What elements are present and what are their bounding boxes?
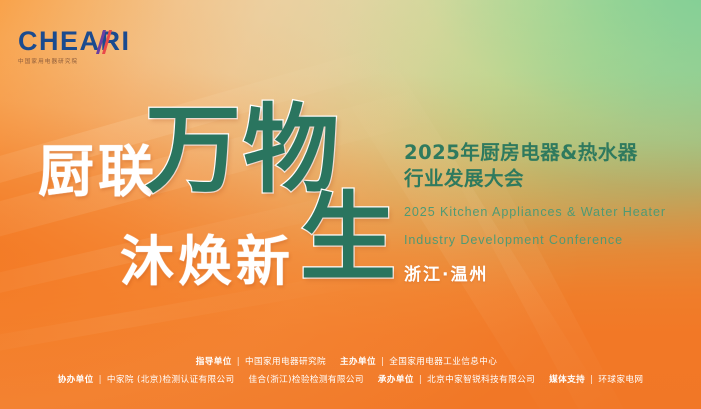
credit-label: 承办单位	[378, 371, 414, 389]
credit-value: 中国家用电器研究院	[245, 353, 326, 371]
cheari-logo: CHEARI 中国家用电器研究院	[18, 26, 148, 66]
credit-separator: |	[99, 371, 102, 389]
credit-value: 环球家电网	[598, 371, 643, 389]
credit-value: 中家院 (北京)检测认证有限公司	[107, 371, 235, 389]
event-en-title-line1: 2025 Kitchen Appliances & Water Heater	[404, 204, 694, 220]
event-en-title-line2: Industry Development Conference	[404, 232, 694, 248]
credits-row-2: 协办单位 | 中家院 (北京)检测认证有限公司 佳合(浙江)检验检测有限公司 承…	[0, 371, 701, 389]
event-cn-title-line1: 2025年厨房电器&热水器	[404, 140, 694, 166]
headline-chulian: 厨联	[38, 144, 158, 200]
credit-separator: |	[590, 371, 593, 389]
a-slash-mark-icon	[86, 30, 112, 54]
credit-item: 承办单位 | 北京中家智锐科技有限公司	[378, 371, 535, 389]
credit-separator: |	[381, 353, 384, 371]
credit-item: 媒体支持 | 环球家电网	[549, 371, 643, 389]
credit-value: 北京中家智锐科技有限公司	[427, 371, 535, 389]
event-cn-title-line2: 行业发展大会	[404, 166, 694, 192]
credit-label: 主办单位	[340, 353, 376, 371]
conference-poster: CHEARI 中国家用电器研究院 厨联 万物 沐焕新 生 2025年厨房电器&热…	[0, 0, 701, 409]
headline-sheng: 生	[300, 190, 396, 286]
logo-subtitle: 中国家用电器研究院	[18, 57, 148, 65]
credit-separator: |	[237, 353, 240, 371]
credit-item: 协办单位 | 中家院 (北京)检测认证有限公司	[58, 371, 235, 389]
credit-separator: |	[419, 371, 422, 389]
credit-value: 全国家用电器工业信息中心	[389, 353, 497, 371]
credit-item: 指导单位 | 中国家用电器研究院	[196, 353, 326, 371]
credit-label: 协办单位	[58, 371, 94, 389]
credit-label: 指导单位	[196, 353, 232, 371]
credit-label: 媒体支持	[549, 371, 585, 389]
credit-item: 主办单位 | 全国家用电器工业信息中心	[340, 353, 497, 371]
event-info-block: 2025年厨房电器&热水器 行业发展大会 2025 Kitchen Applia…	[404, 140, 694, 285]
headline-group: 厨联 万物 沐焕新 生	[0, 96, 400, 306]
event-location: 浙江·温州	[404, 260, 694, 285]
credits-row-1: 指导单位 | 中国家用电器研究院 主办单位 | 全国家用电器工业信息中心	[0, 353, 701, 371]
credit-value: 佳合(浙江)检验检测有限公司	[248, 371, 363, 389]
credit-item: 佳合(浙江)检验检测有限公司	[248, 371, 363, 389]
headline-muhuanxin: 沐焕新	[120, 234, 294, 288]
credits-block: 指导单位 | 中国家用电器研究院 主办单位 | 全国家用电器工业信息中心 协办单…	[0, 353, 701, 389]
logo-wordmark: CHEARI	[18, 26, 148, 56]
